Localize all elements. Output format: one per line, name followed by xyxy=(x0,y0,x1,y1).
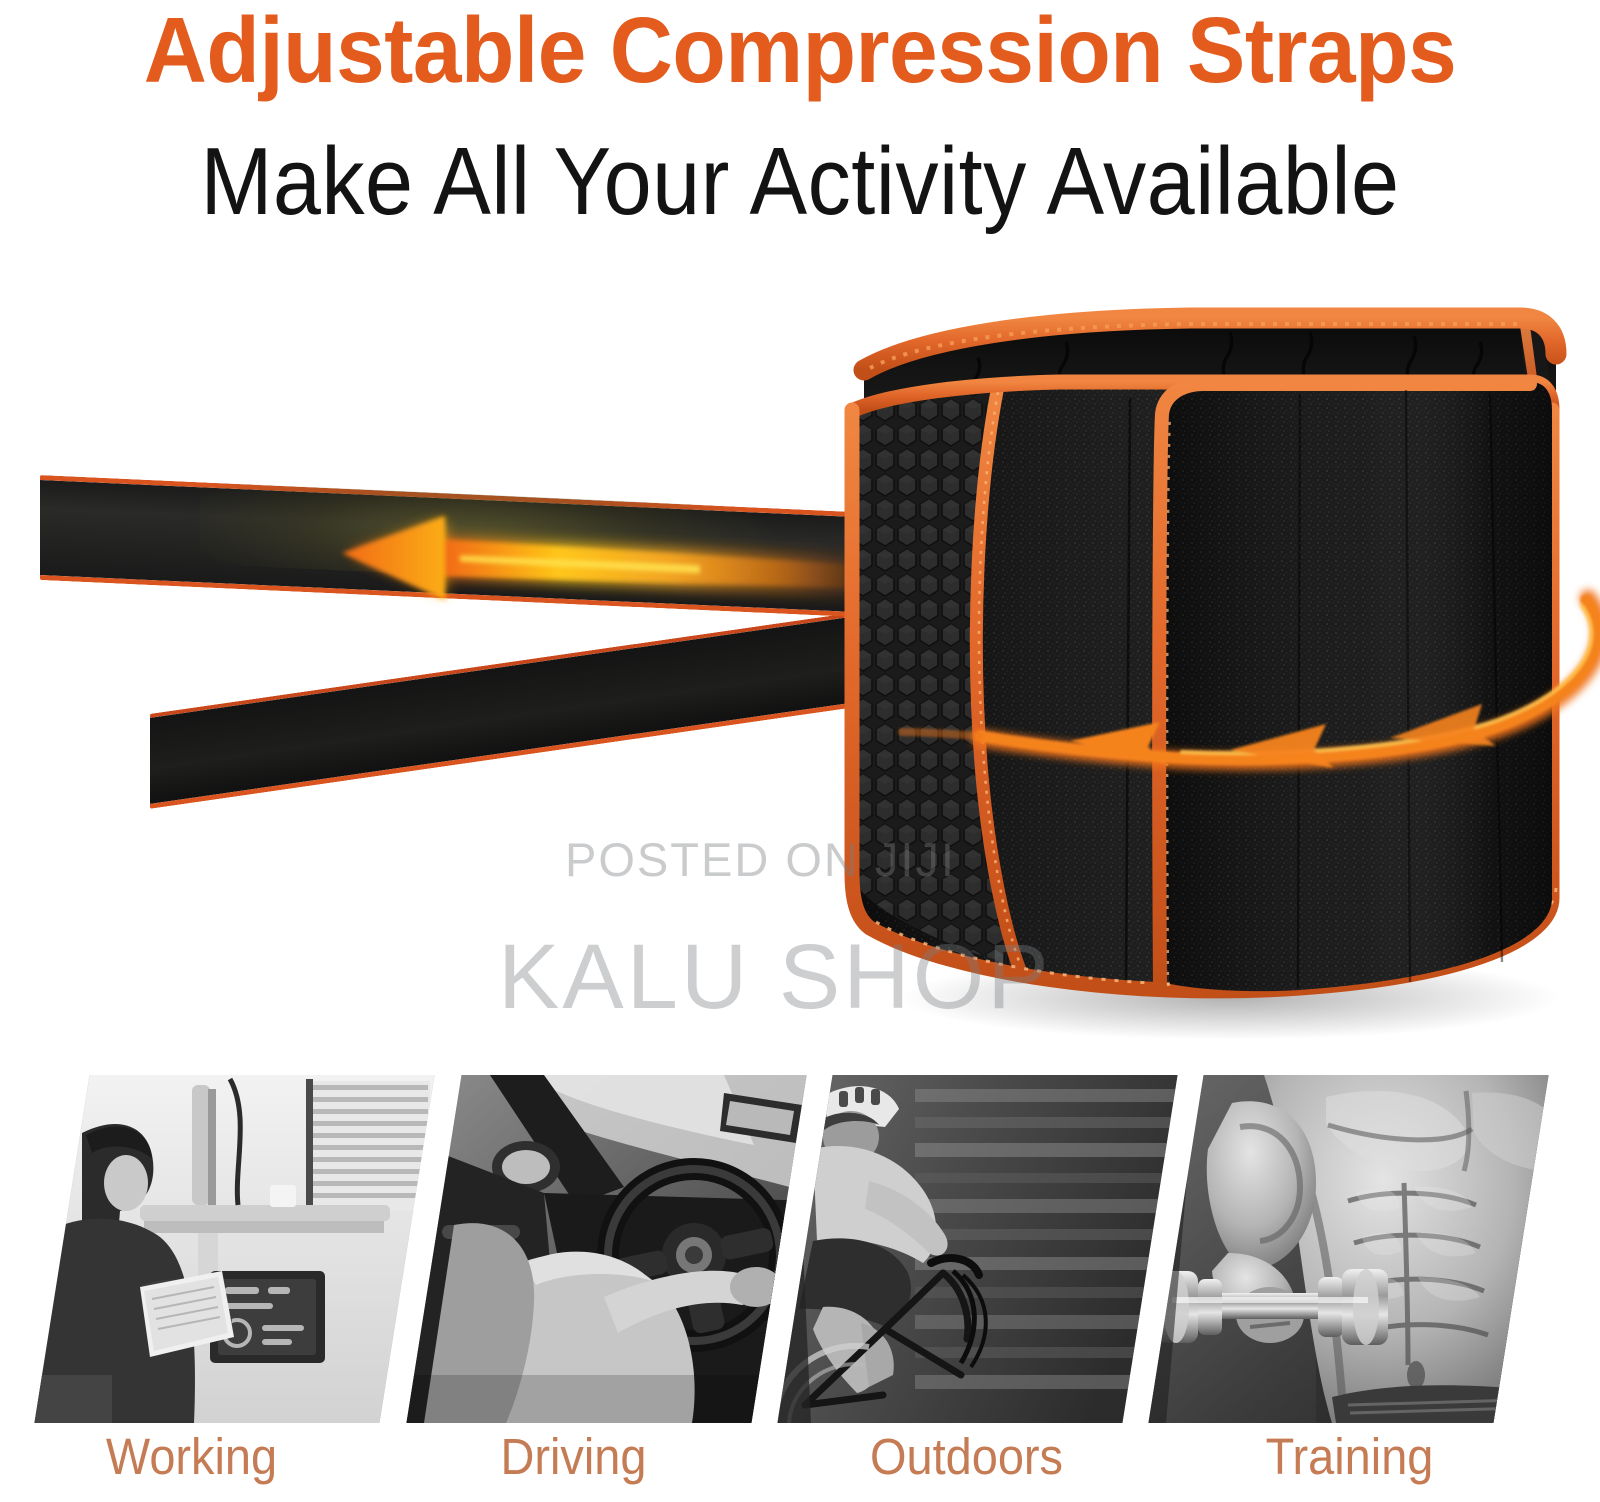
waist-belt-product xyxy=(830,298,1600,1038)
activity-label-training: Training xyxy=(1177,1427,1522,1486)
activity-item-working: Working xyxy=(62,1075,437,1425)
headline-block: Adjustable Compression Straps Make All Y… xyxy=(0,0,1600,270)
activity-label-working: Working xyxy=(19,1427,364,1486)
activity-item-outdoors: Outdoors xyxy=(805,1075,1180,1425)
product-hero xyxy=(0,270,1600,1070)
activity-label-driving: Driving xyxy=(401,1427,746,1486)
page-title: Adjustable Compression Straps xyxy=(48,0,1552,102)
product-marketing-image: Adjustable Compression Straps Make All Y… xyxy=(0,0,1600,1502)
activity-item-driving: Driving xyxy=(434,1075,809,1425)
activity-label-outdoors: Outdoors xyxy=(794,1427,1139,1486)
activity-photo-working xyxy=(34,1075,434,1423)
belt-tail-lower xyxy=(150,600,940,809)
activity-item-training: Training xyxy=(1176,1075,1551,1425)
belt-tail-upper xyxy=(40,475,940,621)
activity-photo-outdoors xyxy=(777,1075,1177,1423)
activity-photo-training xyxy=(1148,1075,1548,1423)
activity-photo-driving xyxy=(406,1075,806,1423)
activity-strip: Working xyxy=(0,1075,1600,1502)
page-subtitle: Make All Your Activity Available xyxy=(80,128,1520,236)
